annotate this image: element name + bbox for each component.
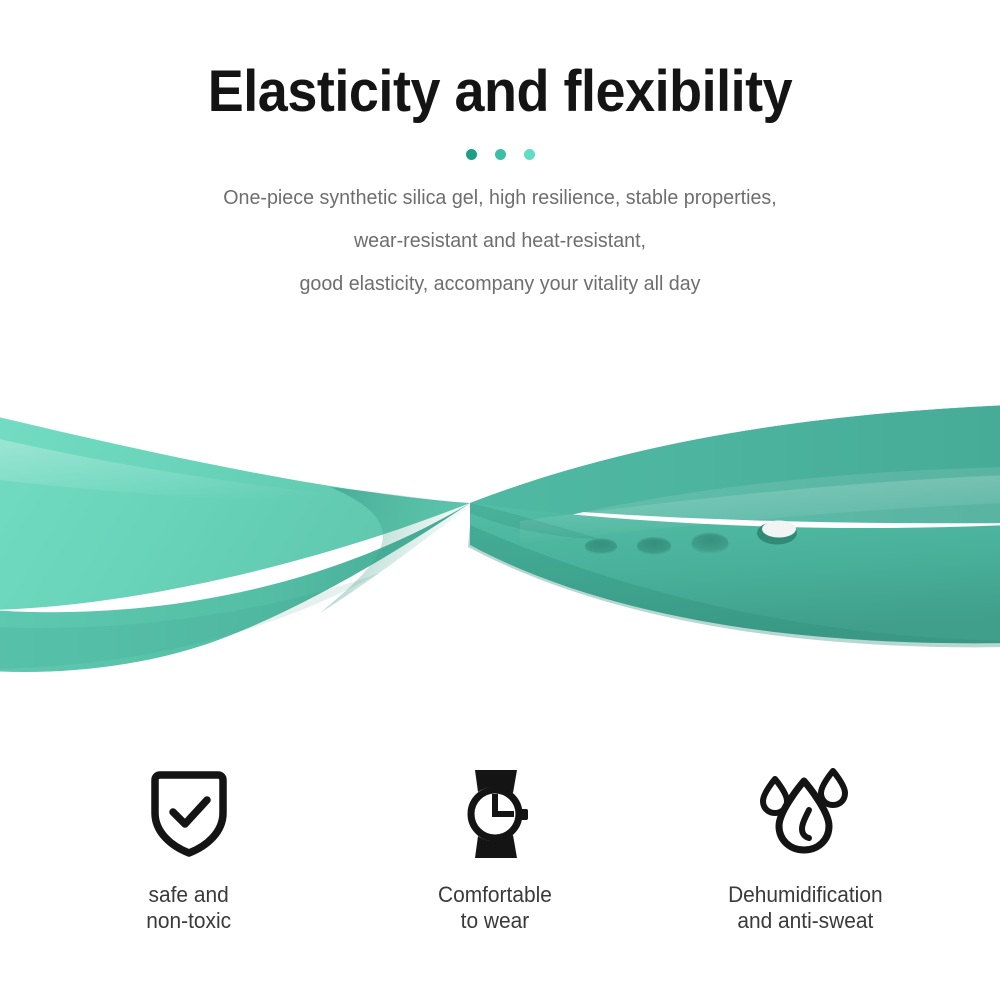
feature-row: safe and non-toxic Comfortable to wear: [0, 762, 1000, 962]
feature-caption-line-1: Dehumidification: [728, 882, 883, 908]
band-hole-2-inner: [637, 537, 671, 553]
feature-caption: safe and non-toxic: [147, 882, 232, 934]
water-drops-icon: [753, 762, 857, 866]
dot-2-icon: [495, 149, 506, 160]
feature-caption: Dehumidification and anti-sweat: [728, 882, 883, 934]
feature-caption-line-1: safe and: [147, 882, 232, 908]
description-paragraph: One-piece synthetic silica gel, high res…: [87, 176, 913, 305]
feature-caption: Comfortable to wear: [438, 882, 552, 934]
dot-separator: [455, 149, 545, 160]
feature-caption-line-2: and anti-sweat: [728, 908, 883, 934]
twisted-band-illustration: [0, 375, 1000, 695]
wristwatch-icon: [447, 762, 543, 866]
band-hole-4-open: [762, 521, 796, 538]
page-title: Elasticity and flexibility: [35, 0, 965, 123]
description-line-1: One-piece synthetic silica gel, high res…: [87, 176, 913, 219]
feature-comfortable-to-wear[interactable]: Comfortable to wear: [345, 762, 645, 934]
dot-3-icon: [524, 149, 535, 160]
product-feature-page: Elasticity and flexibility One-piece syn…: [0, 0, 1000, 1000]
feature-caption-line-1: Comfortable: [438, 882, 552, 908]
dot-1-icon: [466, 149, 477, 160]
shield-check-icon: [141, 762, 237, 866]
feature-caption-line-2: non-toxic: [147, 908, 232, 934]
feature-caption-line-2: to wear: [438, 908, 552, 934]
feature-dehumidification[interactable]: Dehumidification and anti-sweat: [655, 762, 955, 934]
band-hole-3-inner: [692, 533, 728, 551]
description-line-2: wear-resistant and heat-resistant,: [87, 219, 913, 262]
hero-product-image: [0, 375, 1000, 695]
header: Elasticity and flexibility One-piece syn…: [0, 0, 1000, 305]
description-line-3: good elasticity, accompany your vitality…: [87, 262, 913, 305]
band-hole-1-inner: [585, 539, 617, 553]
feature-safe-non-toxic[interactable]: safe and non-toxic: [39, 762, 339, 934]
